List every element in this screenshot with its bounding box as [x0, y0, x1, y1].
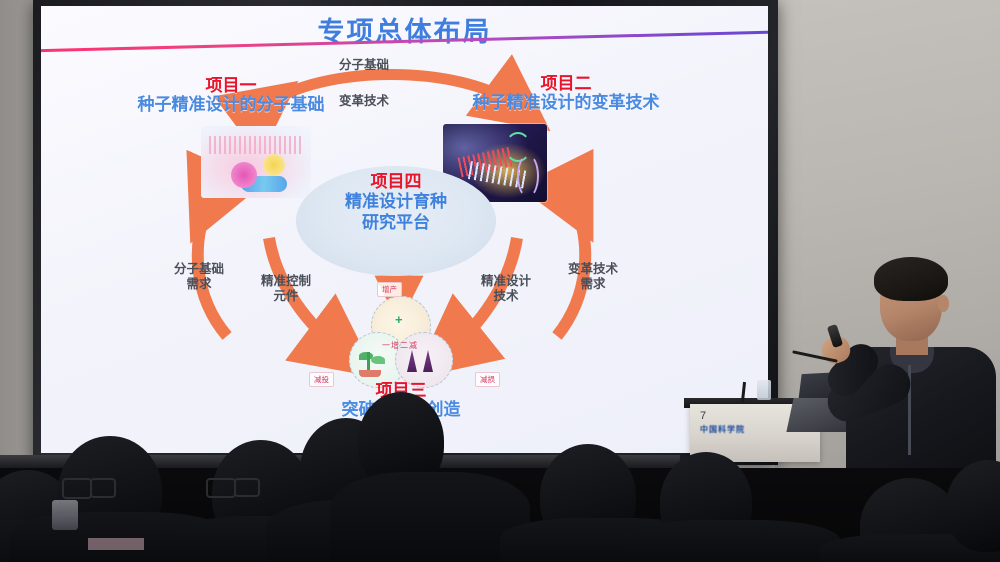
- arrow-label-right-outer-line2: 需求: [553, 277, 633, 292]
- arrow-label-left-outer: 分子基础 需求: [159, 262, 239, 292]
- water-cup: [757, 380, 771, 400]
- plus-icon: +: [395, 312, 403, 327]
- arrow-label-right-inner: 精准设计 技术: [466, 274, 546, 304]
- podium-logo-text: 中国科学院: [700, 424, 745, 435]
- sprout-stem-icon: [367, 352, 370, 370]
- screenshot-root: 专项总体布局: [0, 0, 1000, 562]
- pot-icon: [359, 370, 381, 377]
- arrow-label-left-outer-line2: 需求: [159, 277, 239, 292]
- molecular-illustration: [201, 126, 311, 198]
- arrow-label-right-outer-line1: 变革技术: [553, 262, 633, 277]
- project-four-block: 项目四 精准设计育种 研究平台: [296, 172, 496, 233]
- presentation-slide: 专项总体布局: [41, 6, 768, 453]
- project-two-tag: 项目二: [436, 74, 696, 93]
- audience-glasses-2b: [234, 478, 260, 497]
- arrow-label-left-inner-line1: 精准控制: [246, 274, 326, 289]
- arrow-label-top-lower: 变革技术: [309, 94, 419, 109]
- display-panel: 专项总体布局: [41, 6, 768, 453]
- arrow-label-left-inner: 精准控制 元件: [246, 274, 326, 304]
- project-four-tag: 项目四: [296, 172, 496, 192]
- presenter-hair: [874, 257, 948, 301]
- project-two-block: 项目二 种子精准设计的变革技术: [436, 74, 696, 112]
- dna-purple-strand: [517, 154, 539, 198]
- arrow-label-top-upper: 分子基础: [309, 58, 419, 73]
- audience-glasses-1: [62, 478, 92, 499]
- project-four-line2: 研究平台: [296, 213, 496, 233]
- audience-glasses-2: [206, 478, 236, 498]
- molecule-yellow-blob: [263, 154, 285, 176]
- venn-tag-top: 增产: [377, 282, 402, 297]
- audience-paper: [88, 538, 144, 550]
- arrow-label-left-outer-line1: 分子基础: [159, 262, 239, 277]
- venn-center-label: 一增二减: [341, 340, 459, 351]
- audience-cup: [52, 500, 78, 530]
- audience-glasses-1b: [90, 478, 116, 498]
- presenter-ear: [938, 295, 949, 312]
- arrow-label-right-outer: 变革技术 需求: [553, 262, 633, 292]
- project-four-line1: 精准设计育种: [296, 192, 496, 212]
- leaf-icon-right: [371, 356, 385, 364]
- podium-number: 7: [700, 410, 706, 422]
- project-two-subtitle: 种子精准设计的变革技术: [436, 93, 696, 112]
- molecule-blue-chain: [241, 176, 287, 192]
- project-one-tag: 项目一: [101, 76, 361, 95]
- arrow-label-left-inner-line2: 元件: [246, 289, 326, 304]
- arrow-label-right-inner-line1: 精准设计: [466, 274, 546, 289]
- arrow-label-right-inner-line2: 技术: [466, 289, 546, 304]
- audience-body-6: [620, 520, 840, 562]
